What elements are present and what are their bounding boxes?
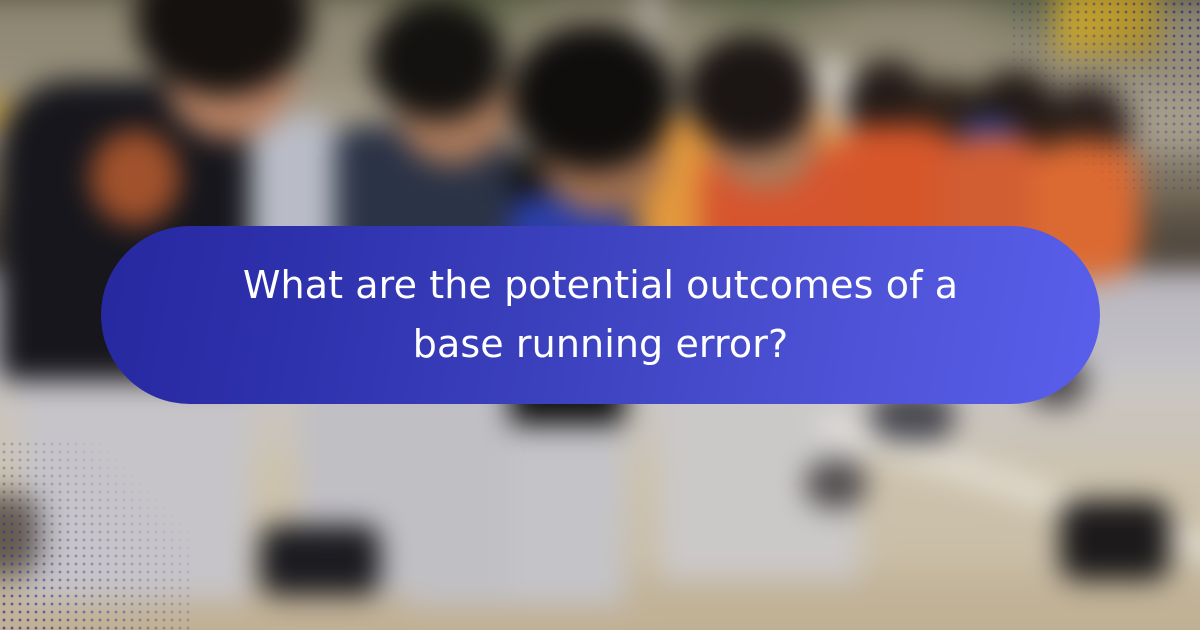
player-cap (685, 35, 815, 150)
headline-pill: What are the potential outcomes of a bas… (101, 226, 1100, 404)
shoe-blob (805, 460, 867, 508)
shoe-blob (260, 525, 380, 595)
headline-text: What are the potential outcomes of a bas… (221, 256, 981, 374)
shoe-blob (0, 495, 40, 575)
share-card: What are the potential outcomes of a bas… (0, 0, 1200, 630)
baseball-glove (90, 130, 180, 225)
player-cap (370, 0, 505, 120)
shoe-blob (1060, 500, 1170, 580)
player-cap (510, 25, 675, 170)
top-shadow (0, 0, 1200, 10)
